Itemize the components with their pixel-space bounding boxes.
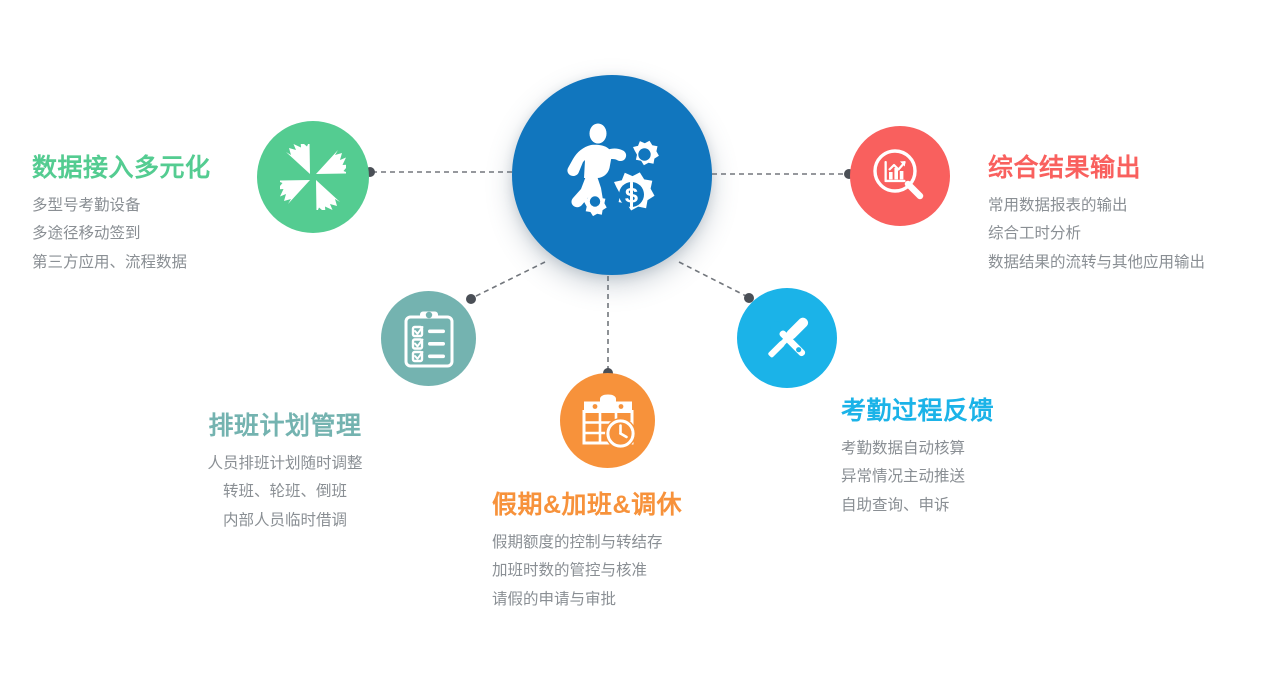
- heading-process-feedback: 考勤过程反馈: [841, 398, 1121, 426]
- node-shift-plan[interactable]: [381, 291, 476, 386]
- bullet-result-output-3: 数据结果的流转与其他应用输出: [988, 253, 1258, 273]
- bullet-shift-plan-1: 人员排班计划随时调整: [155, 454, 415, 474]
- text-block-shift-plan: 排班计划管理 人员排班计划随时调整 转班、轮班、倒班 内部人员临时借调: [155, 413, 415, 531]
- bullet-leave-overtime-2: 加班时数的管控与核准: [492, 561, 752, 581]
- chart-magnifier-icon: [869, 145, 931, 207]
- text-block-leave-overtime: 假期&加班&调休 假期额度的控制与转结存 加班时数的管控与核准 请假的申请与审批: [492, 492, 752, 610]
- node-leave-overtime[interactable]: [560, 373, 655, 468]
- heading-leave-overtime: 假期&加班&调休: [492, 492, 752, 520]
- bullet-process-feedback-2: 异常情况主动推送: [841, 467, 1121, 487]
- calendar-clock-icon: [580, 393, 636, 449]
- bullet-data-intake-3: 第三方应用、流程数据: [32, 253, 282, 273]
- converging-arrows-icon: [280, 144, 346, 210]
- text-block-result-output: 综合结果输出 常用数据报表的输出 综合工时分析 数据结果的流转与其他应用输出: [988, 155, 1258, 273]
- clipboard-checklist-icon: [402, 310, 456, 368]
- connector-center-to-feedback: [679, 262, 748, 297]
- center-node[interactable]: S: [512, 75, 712, 275]
- bullet-process-feedback-1: 考勤数据自动核算: [841, 439, 1121, 459]
- diagram-canvas: S: [0, 0, 1264, 679]
- bullet-data-intake-1: 多型号考勤设备: [32, 196, 282, 216]
- businessman-on-gears-icon: S: [553, 116, 671, 234]
- connector-dot-shift: [466, 294, 476, 304]
- bullet-data-intake-2: 多途径移动签到: [32, 224, 282, 244]
- bullet-leave-overtime-1: 假期额度的控制与转结存: [492, 533, 752, 553]
- bullet-shift-plan-2: 转班、轮班、倒班: [155, 482, 415, 502]
- heading-result-output: 综合结果输出: [988, 155, 1258, 183]
- bullet-result-output-2: 综合工时分析: [988, 224, 1258, 244]
- connector-center-to-shift: [472, 262, 545, 298]
- node-process-feedback[interactable]: [737, 288, 837, 388]
- bullet-result-output-1: 常用数据报表的输出: [988, 196, 1258, 216]
- wrench-screwdriver-icon: [758, 309, 816, 367]
- text-block-process-feedback: 考勤过程反馈 考勤数据自动核算 异常情况主动推送 自助查询、申诉: [841, 398, 1121, 516]
- bullet-leave-overtime-3: 请假的申请与审批: [492, 590, 752, 610]
- text-block-data-intake: 数据接入多元化 多型号考勤设备 多途径移动签到 第三方应用、流程数据: [32, 155, 282, 273]
- bullet-process-feedback-3: 自助查询、申诉: [841, 496, 1121, 516]
- node-result-output[interactable]: [850, 126, 950, 226]
- bullet-shift-plan-3: 内部人员临时借调: [155, 511, 415, 531]
- heading-data-intake: 数据接入多元化: [32, 155, 282, 183]
- heading-shift-plan: 排班计划管理: [155, 413, 415, 441]
